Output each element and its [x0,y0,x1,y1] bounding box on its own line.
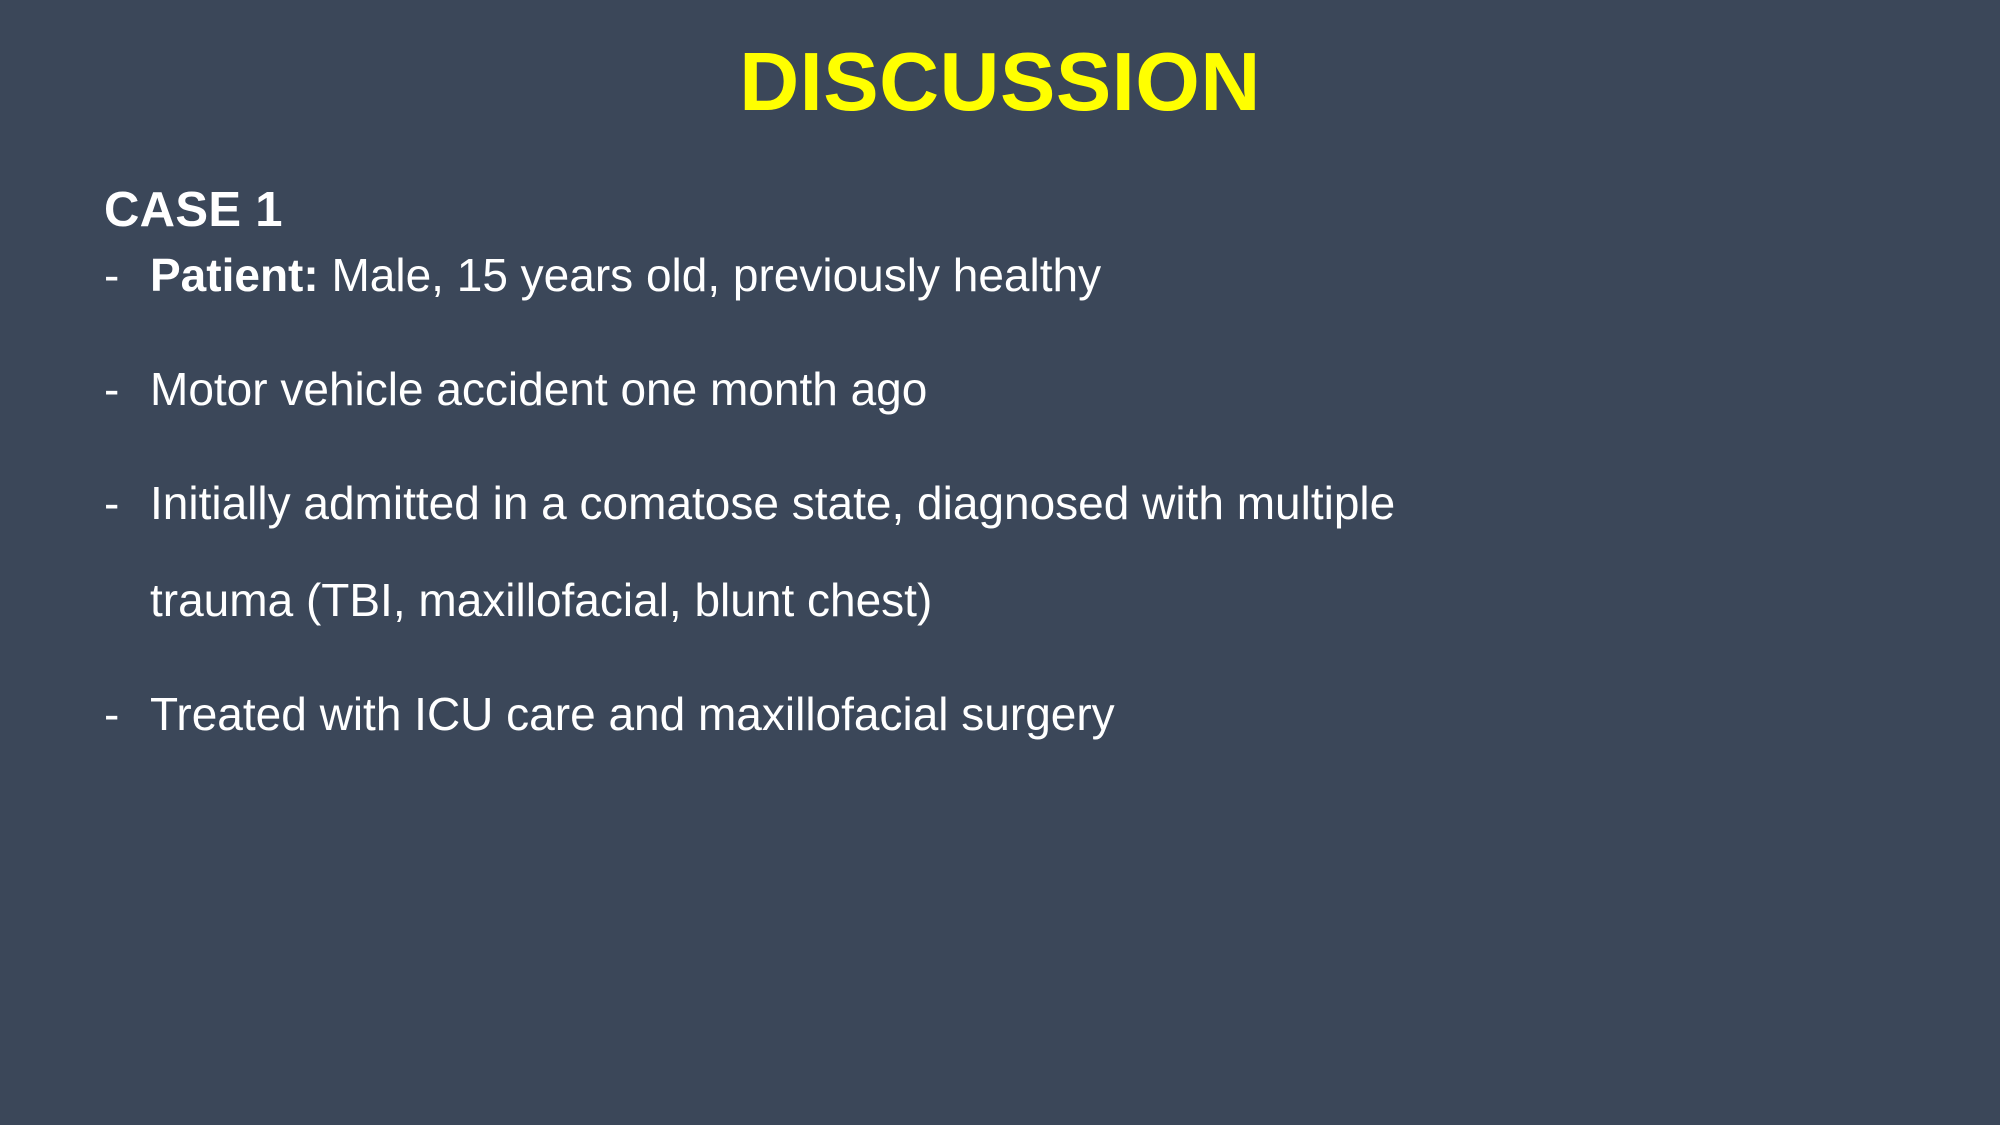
list-item-value: Treated with ICU care and maxillofacial … [150,688,1115,740]
bullet-dash-icon: - [104,691,150,739]
list-item-value: Initially admitted in a comatose state, … [150,477,1395,529]
list-item-value: Male, 15 years old, previously healthy [319,249,1101,301]
slide-body: CASE 1 - Patient: Male, 15 years old, pr… [104,182,1934,738]
page-title: DISCUSSION [0,36,2000,127]
list-item: - Patient: Male, 15 years old, previousl… [104,252,1934,300]
section-heading-case: CASE 1 [104,182,1934,238]
bullet-dash-icon: - [104,366,150,414]
list-item-text: Patient: Male, 15 years old, previously … [150,252,1934,300]
list-item-text: Motor vehicle accident one month ago [150,366,1934,414]
bullet-list: - Patient: Male, 15 years old, previousl… [104,252,1934,738]
list-item-continuation: trauma (TBI, maxillofacial, blunt chest) [150,577,1934,625]
bullet-dash-icon: - [104,252,150,300]
list-item: - Initially admitted in a comatose state… [104,480,1934,625]
list-item: - Motor vehicle accident one month ago [104,366,1934,414]
list-item-value: Motor vehicle accident one month ago [150,363,927,415]
presentation-slide: DISCUSSION CASE 1 - Patient: Male, 15 ye… [0,0,2000,1125]
list-item-text: Treated with ICU care and maxillofacial … [150,691,1934,739]
list-item: - Treated with ICU care and maxillofacia… [104,691,1934,739]
list-item-text: Initially admitted in a comatose state, … [150,480,1934,625]
bullet-dash-icon: - [104,480,150,528]
list-item-label: Patient: [150,249,319,301]
